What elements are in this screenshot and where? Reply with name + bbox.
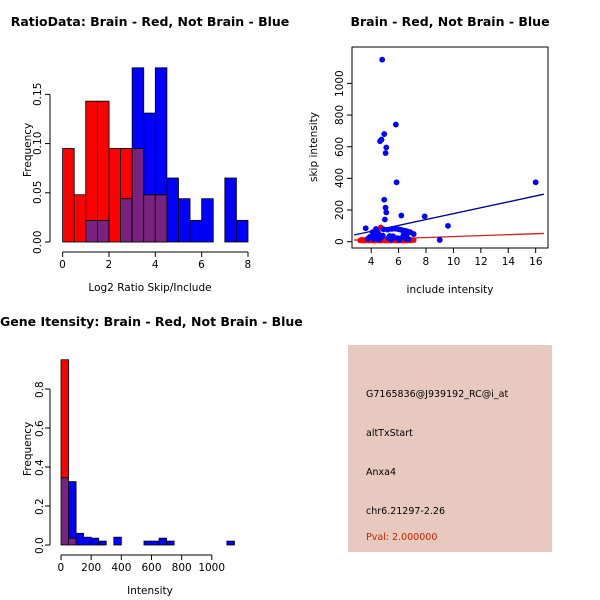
ratio-histogram-panel: RatioData: Brain - Red, Not Brain - Blue… [0, 0, 300, 300]
y-tick-label: 0.2 [34, 498, 46, 515]
y-tick-label: 0.6 [34, 420, 46, 437]
x-tick-label: 0 [59, 259, 66, 271]
event-type-text: altTxStart [366, 428, 413, 439]
scatter-point-blue [383, 209, 389, 215]
histogram-bar-overlap [144, 195, 156, 242]
histogram-bar-overlap [69, 538, 77, 545]
scatter-point-blue [382, 217, 388, 223]
histogram-bar-overlap [132, 149, 144, 243]
y-tick-label: 0.4 [34, 459, 46, 476]
histogram-bar-overlap [61, 478, 69, 545]
histogram-bar-blue [227, 541, 235, 545]
y-tick-label: 1000 [334, 70, 346, 97]
histogram-bar-red [109, 149, 121, 243]
x-tick-label: 400 [111, 562, 131, 574]
x-tick-label: 1000 [198, 562, 225, 574]
histogram-bar-blue [76, 533, 84, 545]
scatter-point-blue [533, 179, 539, 185]
histogram-bar-blue [178, 199, 190, 242]
pval-text: Pval: 2.000000 [366, 532, 437, 543]
scatter-point-blue [437, 237, 443, 243]
scatter-point-blue [379, 57, 385, 63]
scatter-point-blue [445, 223, 451, 229]
x-tick-label: 600 [142, 562, 162, 574]
histogram-bar-blue [144, 541, 152, 545]
scatter-point-blue [376, 237, 382, 243]
histogram-bar-red [86, 101, 98, 220]
histogram-bar-blue [84, 537, 92, 545]
y-tick-label: 0 [334, 238, 346, 245]
intensity-scatter-ylabel: skip intensity [308, 112, 320, 182]
histogram-bar-red [61, 360, 69, 478]
x-tick-label: 8 [245, 259, 252, 271]
histogram-bar-blue [236, 220, 248, 242]
scatter-point-blue [398, 213, 404, 219]
histogram-bar-blue [114, 537, 122, 545]
ratio-histogram-plot [0, 0, 300, 300]
annotation-panel: G7165836@J939192_RC@i_at altTxStart Anxa… [300, 300, 600, 600]
x-tick-label: 4 [368, 256, 375, 268]
x-tick-label: 12 [474, 256, 487, 268]
scatter-point-blue [388, 237, 394, 243]
annotation-box: G7165836@J939192_RC@i_at altTxStart Anxa… [348, 345, 552, 552]
histogram-bar-blue [167, 541, 175, 545]
histogram-bar-blue [155, 68, 167, 195]
ratio-histogram-xlabel: Log2 Ratio Skip/Include [0, 282, 300, 294]
y-tick-label: 600 [334, 137, 346, 157]
histogram-bar-overlap [97, 220, 109, 242]
x-tick-label: 6 [198, 259, 205, 271]
y-tick-label: 200 [334, 200, 346, 220]
scatter-point-blue [396, 237, 402, 243]
histogram-bar-blue [202, 199, 214, 242]
scatter-point-blue [377, 138, 383, 144]
y-tick-label: 0.05 [32, 181, 44, 204]
histogram-bar-blue [225, 178, 237, 242]
histogram-bar-overlap [86, 220, 98, 242]
scatter-point-blue [381, 197, 387, 203]
histogram-bar-overlap [155, 195, 167, 242]
x-tick-label: 800 [172, 562, 192, 574]
scatter-point-blue [422, 213, 428, 219]
gene-symbol-text: Anxa4 [366, 467, 396, 478]
y-tick-label: 400 [334, 168, 346, 188]
histogram-bar-blue [159, 538, 167, 545]
histogram-bar-blue [167, 178, 179, 242]
scatter-point-blue [393, 122, 399, 128]
scatter-point-blue [406, 236, 412, 242]
x-tick-label: 16 [529, 256, 542, 268]
scatter-point-blue [394, 179, 400, 185]
x-tick-label: 0 [58, 562, 65, 574]
gene-intensity-panel: Gene Itensity: Brain - Red, Not Brain - … [0, 300, 300, 600]
histogram-bar-blue [69, 482, 77, 539]
histogram-bar-red [74, 195, 86, 242]
y-tick-label: 0.10 [32, 132, 44, 155]
y-tick-label: 800 [334, 105, 346, 125]
scatter-point-blue [365, 236, 371, 242]
scatter-point-blue [411, 231, 417, 237]
x-tick-label: 14 [502, 256, 515, 268]
x-tick-label: 4 [152, 259, 159, 271]
scatter-point-blue [383, 145, 389, 151]
figure-canvas: RatioData: Brain - Red, Not Brain - Blue… [0, 0, 600, 600]
histogram-bar-blue [99, 541, 107, 545]
histogram-bar-red [63, 149, 75, 243]
x-tick-label: 6 [395, 256, 402, 268]
y-tick-label: 0.0 [34, 537, 46, 554]
probe-id-text: G7165836@J939192_RC@i_at [366, 389, 508, 400]
gene-intensity-plot [0, 300, 300, 600]
plot-frame [352, 47, 548, 248]
scatter-point-blue [383, 150, 389, 156]
intensity-scatter-panel: Brain - Red, Not Brain - Blue include in… [300, 0, 600, 300]
scatter-point-blue [381, 131, 387, 137]
scatter-point-blue [363, 225, 369, 231]
y-tick-label: 0.15 [32, 82, 44, 105]
x-tick-label: 2 [105, 259, 112, 271]
histogram-bar-blue [190, 220, 202, 242]
y-tick-label: 0.8 [34, 381, 46, 398]
histogram-bar-red [121, 149, 133, 199]
x-tick-label: 200 [81, 562, 101, 574]
gene-intensity-xlabel: Intensity [0, 585, 300, 597]
locus-text: chr6.21297-2.26 [366, 506, 445, 517]
y-tick-label: 0.00 [32, 230, 44, 253]
histogram-bar-blue [91, 538, 99, 545]
intensity-scatter-xlabel: include intensity [300, 284, 600, 296]
histogram-bar-red [97, 101, 109, 220]
histogram-bar-blue [144, 113, 156, 195]
x-tick-label: 10 [447, 256, 460, 268]
histogram-bar-overlap [121, 199, 133, 242]
gene-intensity-ylabel: Frequency [22, 421, 34, 475]
x-tick-label: 8 [423, 256, 430, 268]
histogram-bar-blue [132, 68, 144, 149]
histogram-bar-blue [152, 541, 160, 545]
scatter-point-blue [370, 236, 376, 242]
